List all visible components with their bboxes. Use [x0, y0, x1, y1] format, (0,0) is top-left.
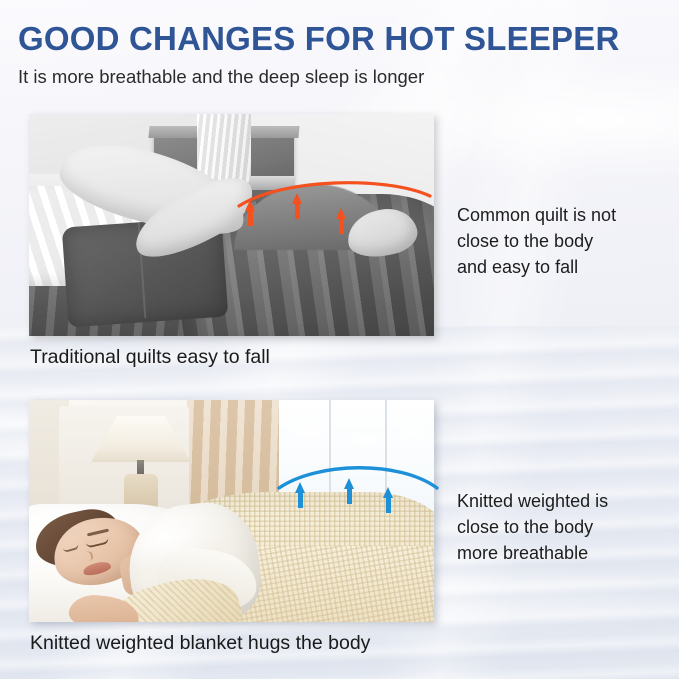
photo-vase — [197, 114, 251, 182]
traditional-quilt-photo — [29, 114, 434, 336]
traditional-caption: Traditional quilts easy to fall — [30, 346, 270, 369]
callout-line: close to the body — [457, 514, 679, 540]
callout-line: and easy to fall — [457, 254, 679, 280]
callout-line: Common quilt is not — [457, 202, 679, 228]
knitted-callout-text: Knitted weighted is close to the body mo… — [457, 488, 679, 566]
callout-line: close to the body — [457, 228, 679, 254]
page-title: GOOD CHANGES FOR HOT SLEEPER — [18, 22, 667, 57]
traditional-callout-text: Common quilt is not close to the body an… — [457, 202, 679, 280]
infographic-page: GOOD CHANGES FOR HOT SLEEPER It is more … — [0, 0, 679, 679]
callout-line: more breathable — [457, 540, 679, 566]
callout-line: Knitted weighted is — [457, 488, 679, 514]
knitted-caption: Knitted weighted blanket hugs the body — [30, 632, 370, 655]
header: GOOD CHANGES FOR HOT SLEEPER It is more … — [0, 0, 679, 87]
page-subtitle: It is more breathable and the deep sleep… — [18, 66, 667, 87]
photo-sheer-curtain — [279, 420, 434, 466]
knitted-blanket-photo — [29, 400, 434, 622]
